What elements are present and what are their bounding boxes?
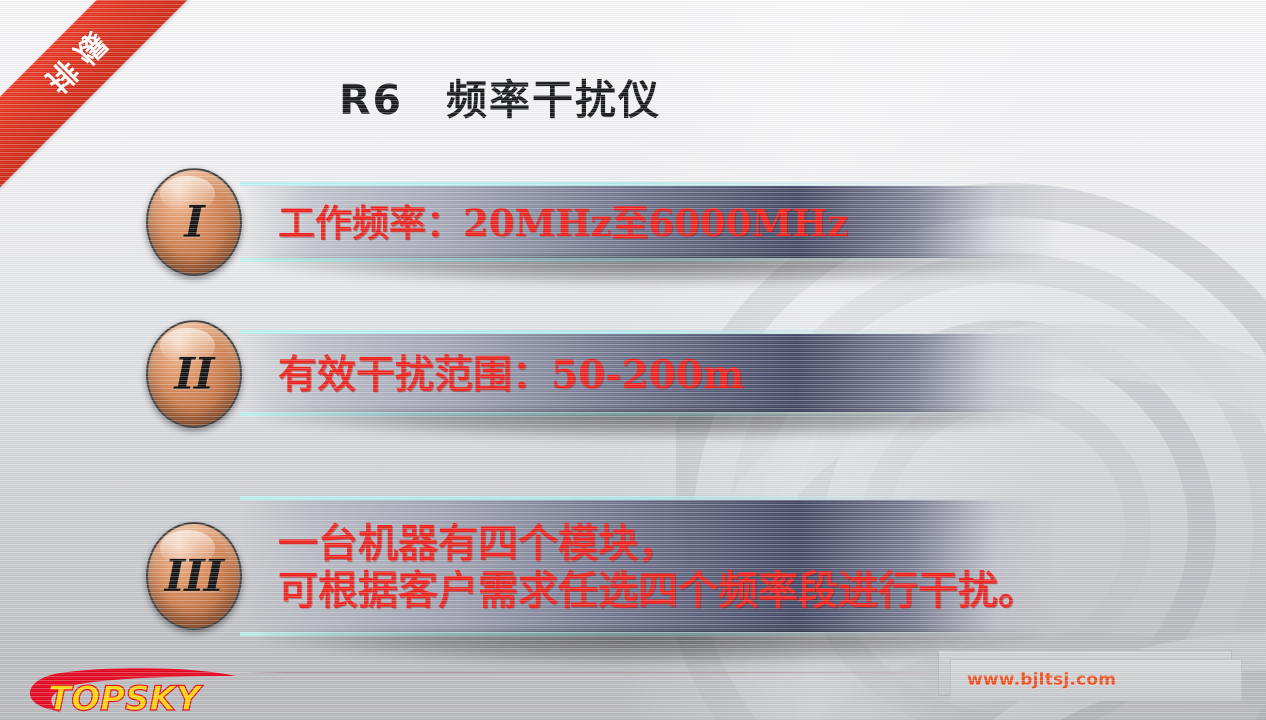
ribbon-label: 排爆 bbox=[31, 17, 126, 112]
url-plaque-front: www.bjltsj.com bbox=[950, 659, 1242, 701]
row-3-bar-shadow bbox=[260, 632, 1040, 666]
footer-divider bbox=[243, 672, 943, 673]
badge-label: III bbox=[165, 551, 224, 602]
website-url[interactable]: www.bjltsj.com bbox=[967, 670, 1116, 690]
row-1-text: 工作频率：20MHz至6000MHz bbox=[278, 202, 848, 246]
ribbon-band: 排爆 bbox=[0, 0, 207, 193]
url-plaque: www.bjltsj.com bbox=[938, 650, 1248, 702]
row-2-bar-shadow bbox=[260, 412, 1040, 440]
row-1-bar-shadow bbox=[260, 258, 1040, 286]
topsky-logo: TOPSKY bbox=[14, 663, 246, 720]
roman-numeral-two-badge: II bbox=[146, 320, 242, 428]
roman-numeral-three-badge: III bbox=[146, 522, 242, 630]
badge-label: II bbox=[174, 349, 213, 400]
slide-canvas: 排爆 R6 频率干扰仪 I 工作频率：20MHz至6000MHz II 有效干扰… bbox=[0, 0, 1266, 720]
svg-text:TOPSKY: TOPSKY bbox=[48, 679, 204, 719]
row-3-text: 一台机器有四个模块， 可根据客户需求任选四个频率段进行干扰。 bbox=[278, 520, 1038, 614]
corner-ribbon: 排爆 bbox=[0, 0, 230, 230]
row-2-text: 有效干扰范围：50-200m bbox=[278, 352, 744, 398]
